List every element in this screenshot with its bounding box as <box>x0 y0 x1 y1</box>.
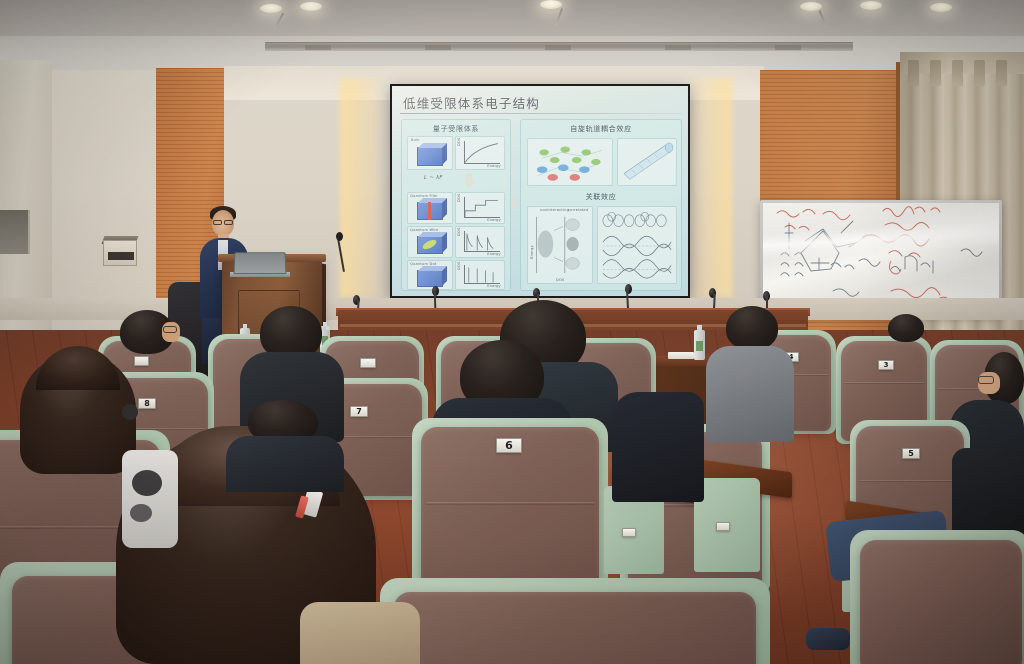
spin-chain-svg <box>598 207 676 283</box>
dos-comparison-svg <box>528 207 592 283</box>
panel-heading-soc: 自旋轨道耦合效应 <box>521 124 681 134</box>
slide-cell-spin-chain <box>597 206 677 284</box>
seat-number-plate: 8 <box>138 398 156 409</box>
slide-cell-orbital-diagram <box>527 138 613 186</box>
projection-screen-frame: 低维受限体系电子结构 量子受限体系 Bulk DOS Energy <box>390 84 690 298</box>
audience-member <box>612 392 704 502</box>
audience-shoe <box>806 628 850 650</box>
desk-name-card <box>668 352 694 359</box>
audience-sleeve <box>122 450 178 548</box>
slide-title-rule <box>400 113 682 114</box>
wall-control-panel-icon[interactable] <box>103 240 137 266</box>
whiteboard-notes <box>763 203 999 313</box>
spotlight-glow <box>300 2 322 11</box>
ceiling-recess-slot <box>265 42 853 51</box>
seat-number-plate <box>716 522 730 531</box>
seat-number-plate <box>360 358 376 368</box>
slide-panel-quantum-confinement: 量子受限体系 Bulk DOS Energy L ~ λF <box>401 119 511 291</box>
orbital-lattice-svg <box>528 139 612 185</box>
panel-heading-left: 量子受限体系 <box>402 124 510 134</box>
projection-screen[interactable]: 低维受限体系电子结构 量子受限体系 Bulk DOS Energy <box>392 86 688 296</box>
seat-number-plate <box>134 356 149 366</box>
nanotube-svg <box>618 139 676 185</box>
slide-cell-wire-illustration: Quantum Wire <box>407 226 453 258</box>
spotlight-glow <box>260 4 282 13</box>
spotlight-glow <box>860 1 882 10</box>
lecture-hall-photo: 低维受限体系电子结构 量子受限体系 Bulk DOS Energy <box>0 0 1024 664</box>
slide-cell-wire-dos: DOS Energy <box>455 226 505 258</box>
ceiling-spotlight <box>300 2 322 11</box>
slide-cell-film-dos: DOS Energy <box>455 192 505 224</box>
speaker-laptop[interactable] <box>234 252 287 274</box>
spotlight-glow <box>930 3 952 12</box>
curve-dot-delta <box>456 261 504 289</box>
slide-cell-dos-comparison: noninteracting correlated Energy DOS <box>527 206 593 284</box>
slide-transition-arrow <box>511 196 519 210</box>
slide-cell-bulk-illustration: Bulk <box>407 136 453 170</box>
seat-number-plate: 7 <box>350 406 368 417</box>
seat-number-plate <box>622 528 636 537</box>
slide-cell-dot-illustration: Quantum Dot <box>407 260 453 290</box>
relation-formula: L ~ λF <box>424 175 443 181</box>
spotlight-glow <box>540 0 562 9</box>
curve-film-staircase <box>456 193 504 223</box>
ceiling-spotlight <box>860 1 882 10</box>
slide-panel-soc-correlation: 自旋轨道耦合效应 <box>520 119 682 291</box>
label-bulk: Bulk <box>411 138 420 142</box>
audience-sweater <box>706 346 794 442</box>
slide-cell-film-illustration: Quantum Film <box>407 192 453 224</box>
panel-heading-correlation: 关联效应 <box>521 192 681 202</box>
whiteboard[interactable] <box>763 203 999 313</box>
podium-microphone-head <box>336 232 343 241</box>
hair-tie <box>122 404 138 420</box>
slide-cell-dot-dos: DOS Energy <box>455 260 505 290</box>
slide-cell-bulk-dos: DOS Energy <box>455 136 505 170</box>
wall-glow-right <box>692 78 732 298</box>
curve-bulk-sqrt <box>456 137 504 169</box>
wall-glow-left <box>340 78 380 298</box>
slide-title: 低维受限体系电子结构 <box>403 93 540 112</box>
seat-number-plate: 6 <box>496 438 522 453</box>
ceiling-spotlight <box>930 3 952 12</box>
seat-number-plate: 3 <box>878 360 894 370</box>
curve-wire-spikes <box>456 227 504 257</box>
wall-niche <box>0 210 30 254</box>
seat-number-plate: 5 <box>902 448 920 459</box>
ceiling-spotlight <box>260 4 282 13</box>
audience-coat <box>300 602 420 664</box>
ceiling-spotlight <box>540 0 562 9</box>
slide-cell-nanotube <box>617 138 677 186</box>
